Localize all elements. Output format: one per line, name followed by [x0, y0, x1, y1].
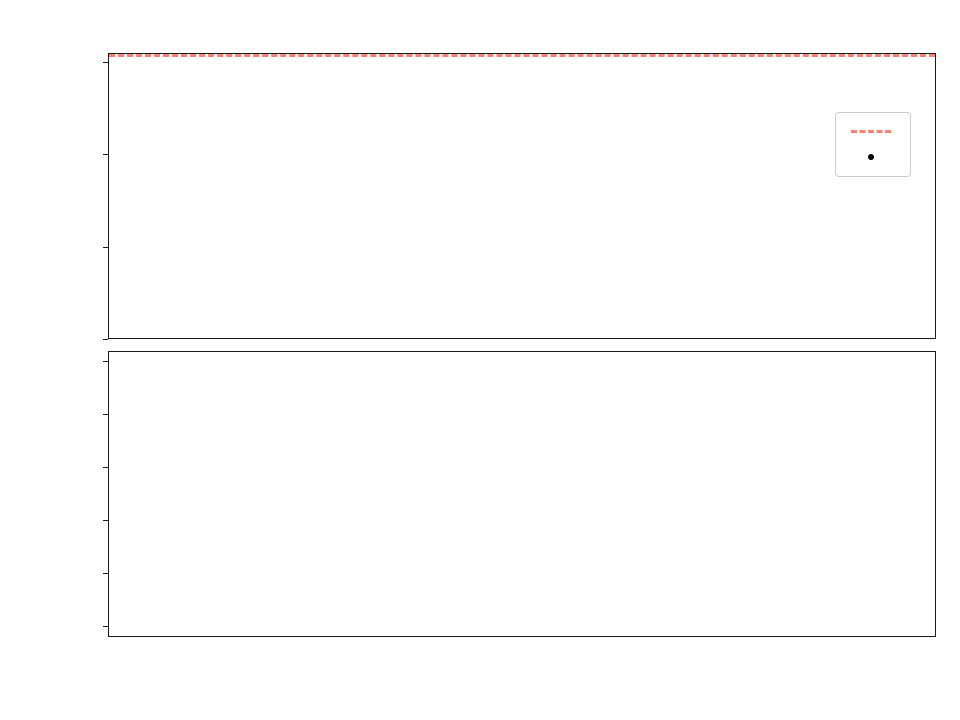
bottom-plot-panel	[108, 351, 936, 637]
counts-scatter-layer	[109, 352, 935, 636]
top-plot-panel	[108, 53, 936, 339]
legend-item-measurements	[845, 144, 901, 170]
legend-item-threshold	[845, 118, 901, 144]
dashed-line-icon	[845, 118, 897, 144]
top-legend	[835, 112, 911, 177]
figure	[0, 0, 960, 720]
top-yaxis-ticks	[48, 53, 108, 339]
bottom-yaxis-ticks	[48, 351, 108, 637]
dot-marker-icon	[845, 144, 897, 170]
tick-mark	[103, 339, 108, 340]
measurements-scatter-layer	[109, 54, 935, 338]
xaxis-ticks	[108, 637, 936, 677]
